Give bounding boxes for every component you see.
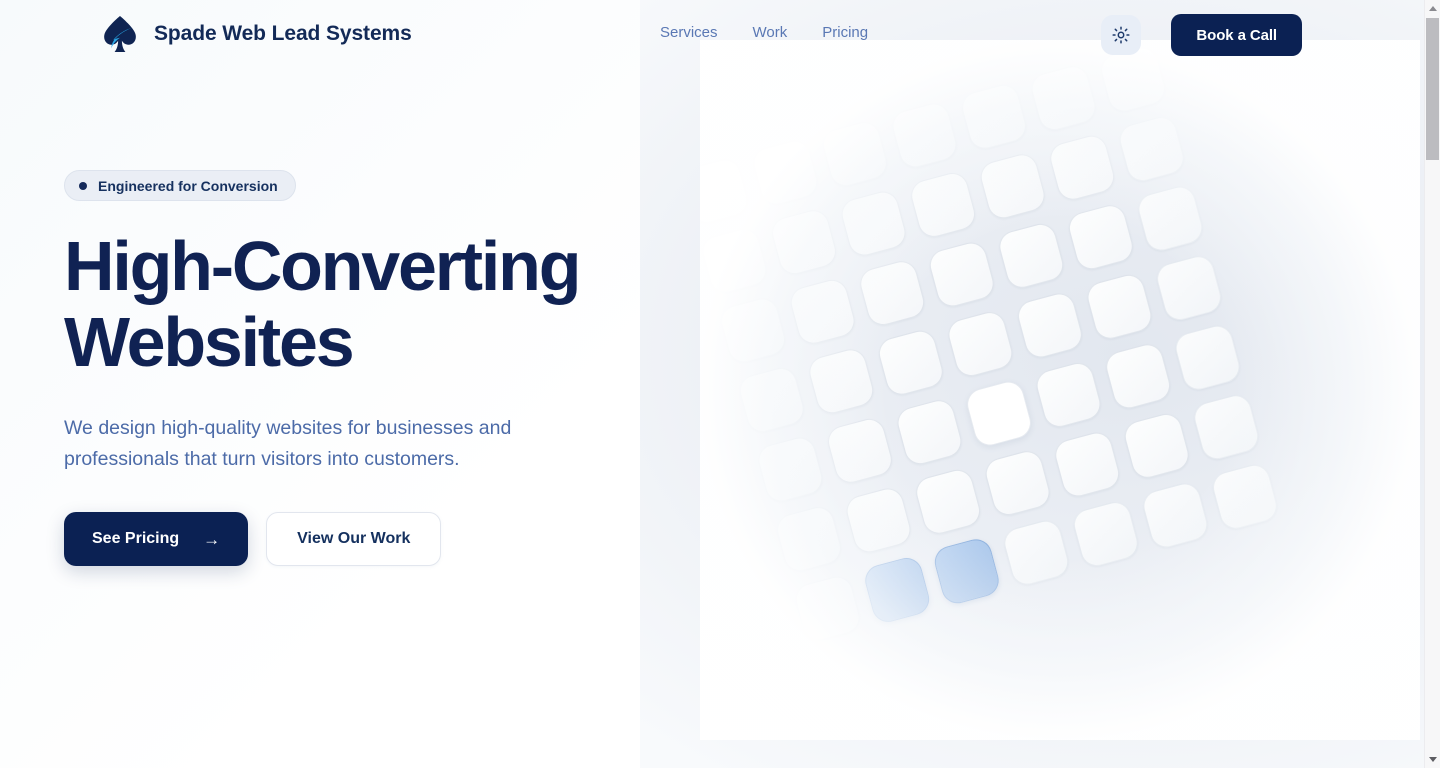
hero-title: High-Converting Websites xyxy=(64,228,684,380)
chevron-up-icon xyxy=(1429,6,1437,11)
grid-tile xyxy=(806,346,877,417)
grid-tile xyxy=(1033,359,1104,430)
sun-icon xyxy=(1112,26,1130,44)
grid-tile xyxy=(1191,392,1262,463)
hero-badge: Engineered for Conversion xyxy=(64,170,296,201)
grid-tile xyxy=(700,156,751,227)
grid-tile xyxy=(1001,517,1072,588)
scrollbar-down-arrow[interactable] xyxy=(1425,751,1440,768)
hero-action-buttons: See Pricing → View Our Work xyxy=(64,512,684,566)
spade-logo-icon xyxy=(102,14,138,54)
grid-tile xyxy=(1172,322,1243,393)
tilted-tile-grid xyxy=(700,40,1420,740)
scrollbar-thumb[interactable] xyxy=(1426,18,1439,160)
grid-tile xyxy=(1135,183,1206,254)
vertical-scrollbar[interactable] xyxy=(1424,0,1440,768)
grid-tile xyxy=(718,295,789,366)
nav-link-services[interactable]: Services xyxy=(660,24,718,41)
grid-tile xyxy=(1084,271,1155,342)
grid-tile xyxy=(824,415,895,486)
grid-tile xyxy=(996,220,1067,291)
grid-tile xyxy=(875,327,946,398)
badge-dot-icon xyxy=(79,182,87,190)
grid-tile xyxy=(792,573,863,644)
hero-subtitle: We design high-quality websites for busi… xyxy=(64,413,564,475)
grid-tile xyxy=(1209,461,1280,532)
grid-tile xyxy=(945,309,1016,380)
grid-tile xyxy=(964,378,1035,449)
grid-tile xyxy=(819,119,890,190)
nav-link-work[interactable]: Work xyxy=(753,24,788,41)
grid-tile xyxy=(889,100,960,171)
grid-tile xyxy=(894,397,965,468)
main-navigation: Services Work Pricing xyxy=(660,24,868,41)
theme-toggle-button[interactable] xyxy=(1101,15,1141,55)
grid-tile xyxy=(931,536,1002,607)
grid-tile xyxy=(787,276,858,347)
see-pricing-label: See Pricing xyxy=(92,530,179,548)
grid-tile xyxy=(769,207,840,278)
grid-tile xyxy=(750,137,821,208)
grid-tile xyxy=(843,485,914,556)
brand-name: Spade Web Lead Systems xyxy=(154,22,412,46)
grid-tile xyxy=(959,81,1030,152)
grid-tile xyxy=(862,554,933,625)
browser-viewport: Spade Web Lead Systems Services Work Pri… xyxy=(0,0,1440,768)
grid-tile xyxy=(913,466,984,537)
grid-tile xyxy=(1065,202,1136,273)
nav-link-pricing[interactable]: Pricing xyxy=(822,24,868,41)
grid-tile xyxy=(736,364,807,435)
see-pricing-button[interactable]: See Pricing → xyxy=(64,512,248,566)
grid-tile xyxy=(700,225,770,296)
arrow-right-icon: → xyxy=(203,531,220,548)
view-our-work-button[interactable]: View Our Work xyxy=(266,512,441,566)
grid-tile xyxy=(908,169,979,240)
grid-tile xyxy=(1140,480,1211,551)
scrollbar-up-arrow[interactable] xyxy=(1425,0,1440,17)
grid-tile xyxy=(1154,253,1225,324)
header-actions: Book a Call xyxy=(1101,14,1302,56)
grid-tile xyxy=(838,188,909,259)
hero-section: Engineered for Conversion High-Convertin… xyxy=(64,170,684,566)
grid-tile xyxy=(857,258,928,329)
grid-tile xyxy=(1014,290,1085,361)
grid-tile xyxy=(982,448,1053,519)
hero-badge-label: Engineered for Conversion xyxy=(98,178,278,194)
grid-tile xyxy=(977,151,1048,222)
grid-tile xyxy=(1116,114,1187,185)
grid-tile xyxy=(1103,341,1174,412)
grid-tile xyxy=(1047,132,1118,203)
grid-tile xyxy=(1052,429,1123,500)
book-a-call-button[interactable]: Book a Call xyxy=(1171,14,1302,56)
grid-tile xyxy=(926,239,997,310)
grid-tile xyxy=(1028,63,1099,134)
grid-tile xyxy=(755,434,826,505)
brand-logo[interactable]: Spade Web Lead Systems xyxy=(102,14,412,54)
site-header: Spade Web Lead Systems Services Work Pri… xyxy=(0,0,1424,70)
grid-tile xyxy=(1121,410,1192,481)
chevron-down-icon xyxy=(1429,757,1437,762)
grid-tile xyxy=(1070,499,1141,570)
tile-grid-rotator xyxy=(700,40,1420,740)
grid-tile xyxy=(774,504,845,575)
